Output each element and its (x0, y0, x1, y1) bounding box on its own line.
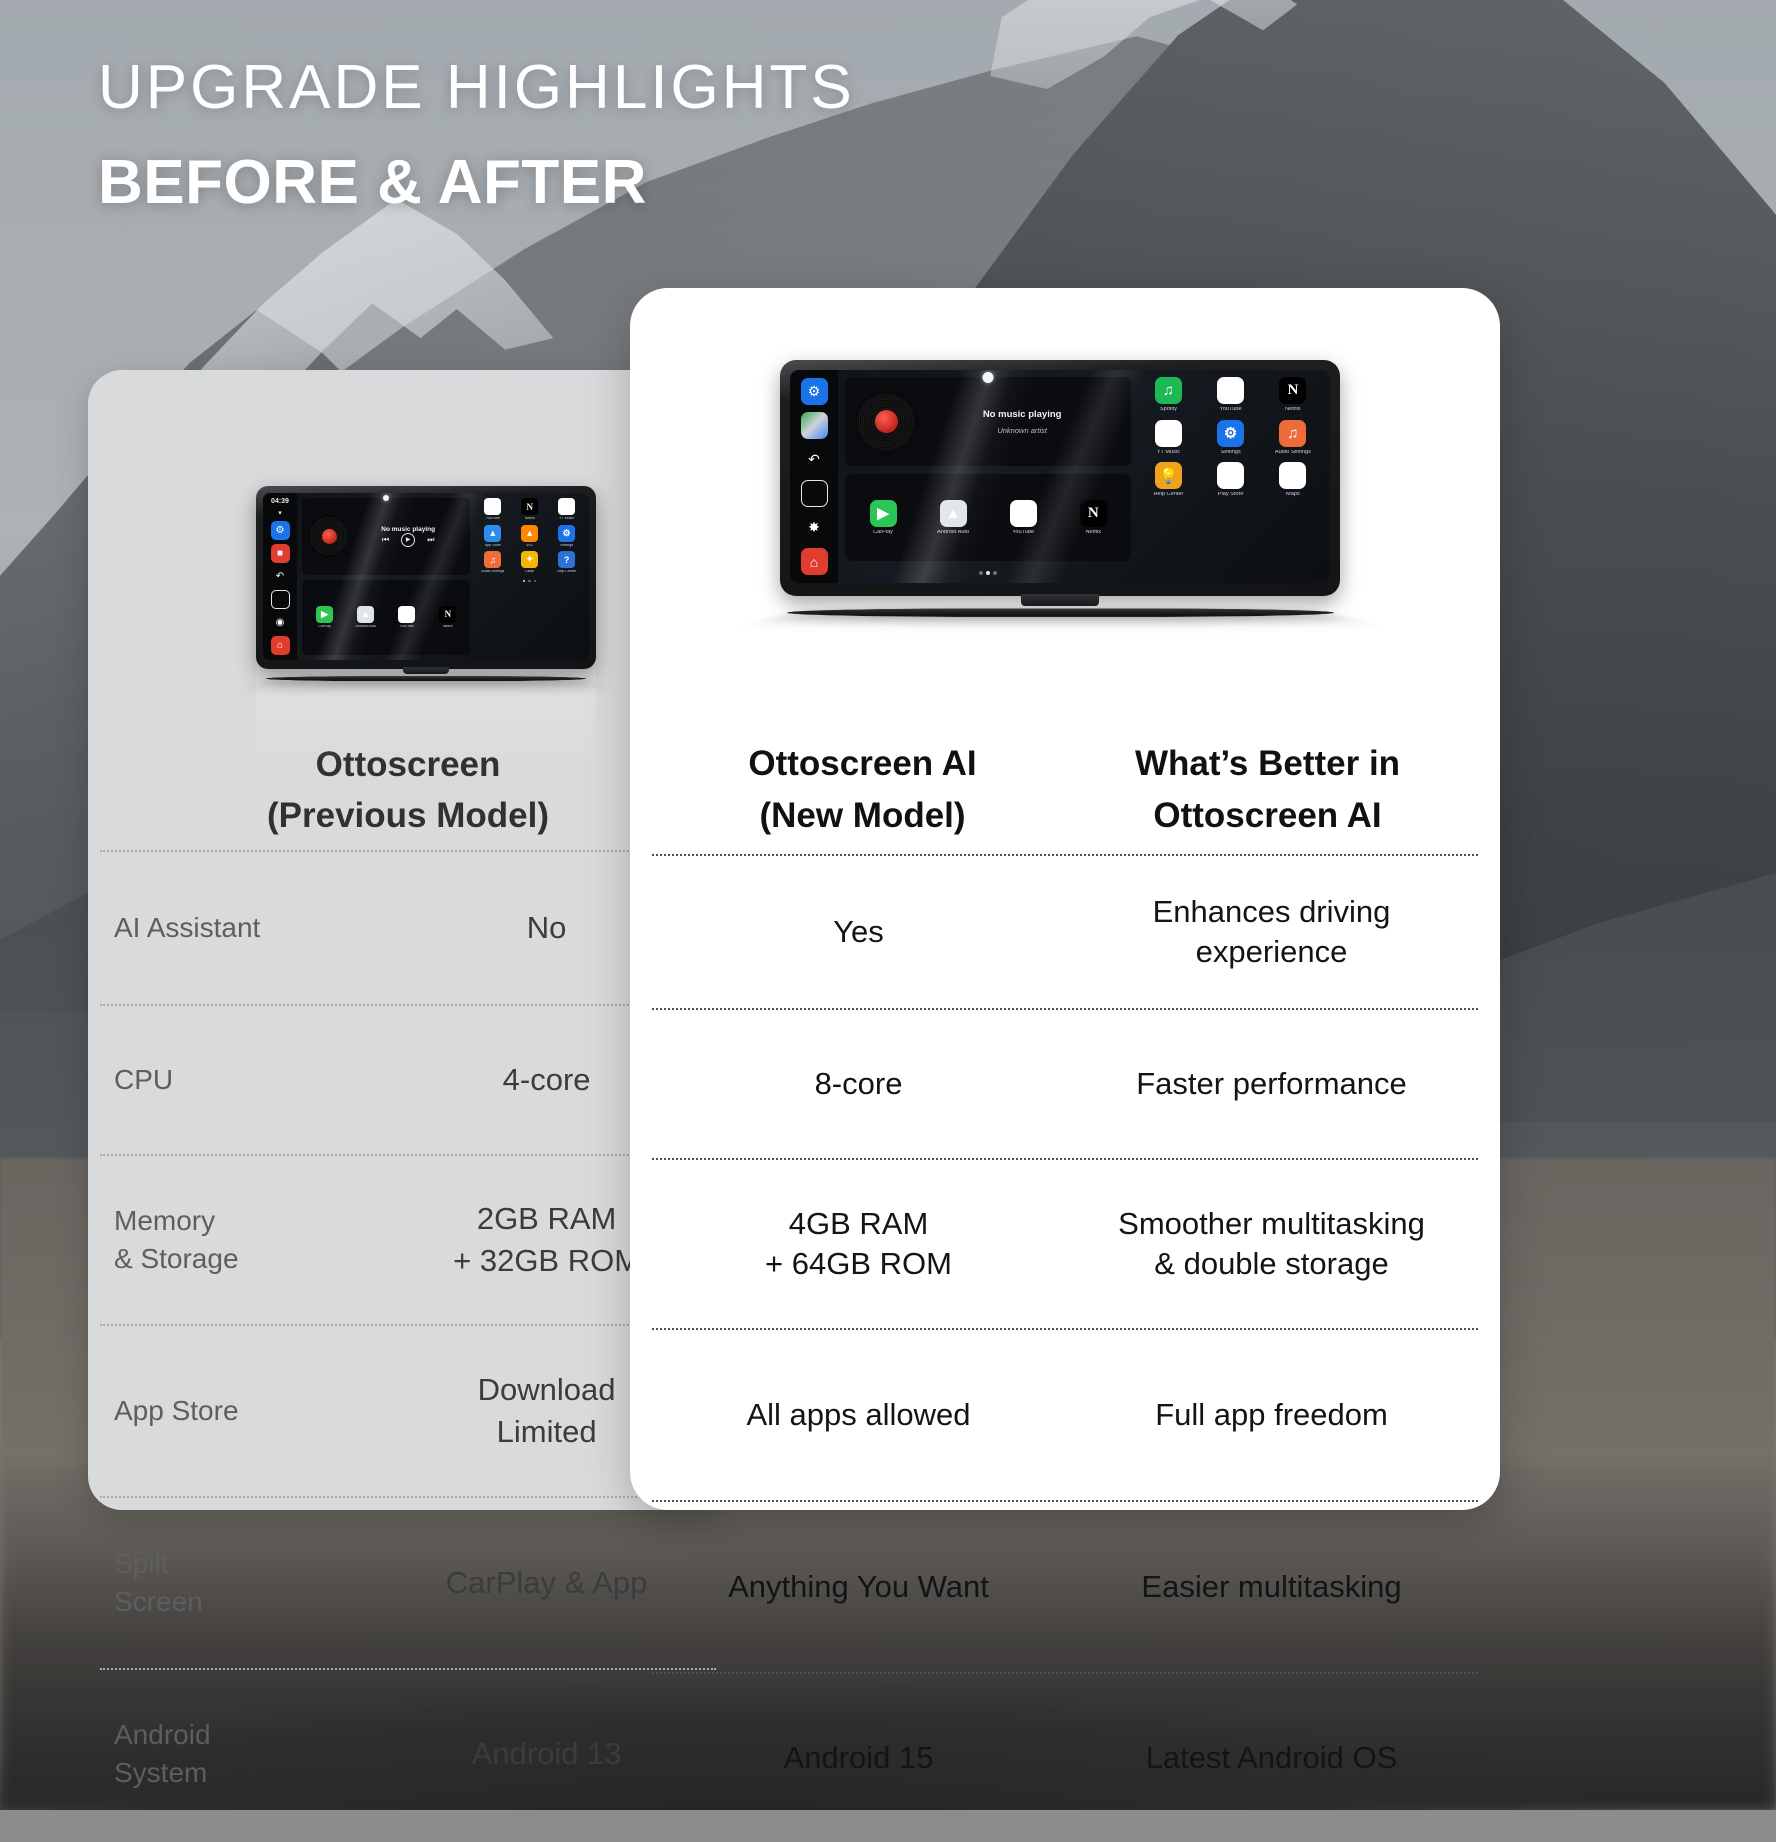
android-auto-icon: ▲ (940, 500, 967, 527)
now-playing-text: No music playing Unknown artist (925, 409, 1119, 435)
table-row: App Store Download Limited (100, 1324, 716, 1496)
table-row: 4GB RAM + 64GB ROM Smoother multitasking… (652, 1158, 1478, 1328)
device-screen: 04:39 ▾ ⚙ ■ ↶ ◉ ⌂ No musi (263, 493, 589, 660)
table-row: Anything You Want Easier multitasking (652, 1500, 1478, 1672)
new-model-value: 8-core (652, 1064, 1065, 1104)
split-screen-icon[interactable] (271, 590, 290, 609)
camera-icon[interactable]: ✸ (801, 514, 828, 541)
app-label: Audio Settings (1275, 450, 1311, 456)
new-model-title-line2: (New Model) (666, 790, 1059, 842)
status-clock: 04:39 (271, 498, 289, 506)
app-label: Help Center (1153, 492, 1183, 498)
device-screen-content: No music playing ⏮ ▶ ⏭ ▶CarPlay ▲Android… (297, 493, 589, 660)
audio-settings-icon: ♫ (1279, 420, 1306, 447)
now-playing-card: No music playing ⏮ ▶ ⏭ (302, 498, 470, 575)
app-tile[interactable]: ✦Clean (512, 551, 547, 574)
camera-dot-icon (983, 372, 994, 383)
settings-icon: ⚙ (1217, 420, 1244, 447)
app-tile[interactable]: ◉YT Music (549, 498, 584, 521)
table-row: Spilt Screen CarPlay & App (100, 1496, 716, 1668)
netflix-icon: N (439, 606, 456, 623)
table-row: Android System Android 13 (100, 1668, 716, 1838)
split-screen-icon[interactable] (801, 480, 828, 507)
table-row: CPU 4-core (100, 1004, 716, 1154)
app-tile[interactable]: ?Help Center (549, 551, 584, 574)
app-label: YT Music (1157, 450, 1180, 456)
carplay-icon: ▶ (316, 606, 333, 623)
header-new-model: Ottoscreen AI (New Model) (660, 738, 1065, 842)
previous-model-spec-table: AI Assistant No CPU 4-core Memory & Stor… (100, 850, 716, 1838)
page-subtitle: BEFORE & AFTER (98, 149, 855, 217)
new-model-value: 4GB RAM + 64GB ROM (652, 1204, 1065, 1285)
previous-model-device-image: 04:39 ▾ ⚙ ■ ↶ ◉ ⌂ No musi (256, 486, 596, 683)
new-model-value: Anything You Want (652, 1567, 1065, 1607)
gear-icon[interactable]: ⚙ (801, 378, 828, 405)
home-button-icon[interactable]: ⌂ (271, 636, 290, 655)
app-tile[interactable]: ▶YouTube (1201, 377, 1261, 413)
app-tile[interactable]: ▲App Store (475, 525, 510, 548)
app-label: Audio Settings (481, 570, 504, 574)
spec-key: CPU (100, 1061, 377, 1099)
spec-key: Memory & Storage (100, 1202, 377, 1278)
app-label: Spotify (1160, 407, 1177, 413)
spec-key: Android System (100, 1716, 377, 1792)
new-model-value: Yes (652, 912, 1065, 952)
header-whats-better: What’s Better in Ottoscreen AI (1065, 738, 1470, 842)
yt-music-icon: ◉ (558, 498, 575, 515)
app-tile[interactable]: ⚙Settings (1201, 420, 1261, 456)
app-tile[interactable]: ♫Audio Settings (475, 551, 510, 574)
benefit-value: Enhances driving experience (1065, 892, 1478, 973)
app-tile[interactable]: NNetflix (1263, 377, 1323, 413)
whats-better-title-line2: Ottoscreen AI (1071, 790, 1464, 842)
maps-icon: ● (1279, 462, 1306, 489)
page-title: UPGRADE HIGHLIGHTS (98, 52, 855, 123)
media-column: No music playing ⏮ ▶ ⏭ ▶CarPlay ▲Android… (302, 498, 470, 655)
camera-icon[interactable]: ◉ (271, 613, 290, 632)
device-stand (881, 594, 1239, 620)
home-icon[interactable]: ⌂ (801, 548, 828, 575)
benefit-value: Full app freedom (1065, 1395, 1478, 1435)
app-store-icon: ▲ (484, 525, 501, 542)
help-center-icon: ? (558, 551, 575, 568)
app-label: Netflix (525, 517, 535, 521)
now-playing-title: No music playing (925, 409, 1119, 420)
benefit-value: Smoother multitasking & double storage (1065, 1204, 1478, 1285)
device-stand (321, 667, 532, 683)
app-label: Netflix (1285, 407, 1301, 413)
android-auto-icon: ▲ (357, 606, 374, 623)
app-label: Netflix (1085, 530, 1101, 536)
app-label: Help Center (557, 570, 576, 574)
new-model-spec-table: Yes Enhances driving experience 8-core F… (652, 854, 1478, 1842)
clean-icon: ✦ (521, 551, 538, 568)
spec-key: App Store (100, 1392, 377, 1430)
youtube-icon: ▶ (1010, 500, 1037, 527)
app-label: App Store (485, 544, 501, 548)
next-track-icon[interactable]: ⏭ (427, 535, 434, 545)
app-label: Settings (1221, 450, 1241, 456)
new-model-table-headers: Ottoscreen AI (New Model) What’s Better … (660, 738, 1470, 842)
netflix-icon: N (521, 498, 538, 515)
spotify-icon: ♫ (1155, 377, 1182, 404)
page-indicator-dots (475, 578, 584, 584)
app-label: CarPlay (873, 530, 893, 536)
now-playing-card: No music playing Unknown artist (845, 377, 1131, 466)
app-label: Settings (560, 544, 573, 548)
previous-track-icon[interactable]: ⏮ (382, 535, 389, 545)
table-row: AI Assistant No (100, 850, 716, 1004)
play-store-icon: ▶ (1217, 462, 1244, 489)
device-bezel: ⚙ ↶ ✸ ⌂ No music playing Unk (780, 360, 1340, 596)
app-tile[interactable]: ▶Play Store (1201, 462, 1261, 498)
app-label: Android Auto (355, 625, 376, 629)
now-playing-title: No music playing (354, 526, 462, 533)
yt-music-icon: ◉ (1155, 420, 1182, 447)
new-model-device-image: ⚙ ↶ ✸ ⌂ No music playing Unk (780, 360, 1340, 620)
media-transport-controls[interactable]: ⏮ ▶ ⏭ (354, 533, 462, 547)
device-bezel: 04:39 ▾ ⚙ ■ ↶ ◉ ⌂ No musi (256, 486, 596, 669)
app-label: VLC (526, 544, 533, 548)
app-tile[interactable]: ▲Android Auto (346, 606, 385, 629)
benefit-value: Faster performance (1065, 1064, 1478, 1104)
app-tile[interactable]: ◉YT Music (1138, 420, 1198, 456)
media-column: No music playing Unknown artist ▶CarPlay… (845, 377, 1131, 576)
vinyl-record-icon (310, 517, 348, 555)
netflix-icon: N (1080, 500, 1107, 527)
now-playing-subtitle: Unknown artist (925, 426, 1119, 435)
wifi-icon: ▾ (278, 509, 282, 517)
app-label: YouTube (1220, 407, 1242, 413)
app-tile[interactable]: ▶CarPlay (305, 606, 344, 629)
app-tile[interactable]: ▶CarPlay (849, 500, 917, 536)
table-row: 8-core Faster performance (652, 1008, 1478, 1158)
app-tile[interactable]: NNetflix (1059, 500, 1127, 536)
app-tile[interactable]: ▶YouTube (989, 500, 1057, 536)
device-side-rail: ⚙ ↶ ✸ ⌂ (790, 370, 838, 583)
audio-settings-icon: ♫ (484, 551, 501, 568)
app-label: YouTube (400, 625, 414, 629)
bottom-app-row: ▶CarPlay ▲Android Auto ▶YouTube NNetflix (845, 474, 1131, 561)
youtube-icon: ▶ (484, 498, 501, 515)
vinyl-record-icon (857, 393, 915, 451)
app-tile[interactable]: ⚙Settings (549, 525, 584, 548)
help-center-icon: 💡 (1155, 462, 1182, 489)
app-tile[interactable]: ▶YouTube (387, 606, 426, 629)
app-tile[interactable]: 💡Help Center (1138, 462, 1198, 498)
netflix-icon: N (1279, 377, 1306, 404)
table-row: Android 15 Latest Android OS (652, 1672, 1478, 1842)
stand-neck (1021, 594, 1100, 606)
youtube-icon: ▶ (398, 606, 415, 623)
app-tile[interactable]: NNetflix (428, 606, 467, 629)
back-icon[interactable]: ↶ (271, 567, 290, 586)
back-icon[interactable]: ↶ (801, 446, 828, 473)
camera-dot-icon (383, 495, 389, 501)
bottom-app-row: ▶CarPlay ▲Android Auto ▶YouTube NNetflix (302, 580, 470, 655)
app-label: Android Auto (937, 530, 969, 536)
table-row: Yes Enhances driving experience (652, 854, 1478, 1008)
new-model-title-line1: Ottoscreen AI (666, 738, 1059, 790)
new-model-card: ⚙ ↶ ✸ ⌂ No music playing Unk (630, 288, 1500, 1510)
app-label: YT Music (559, 517, 574, 521)
device-screen-content: No music playing Unknown artist ▶CarPlay… (838, 370, 1330, 583)
whats-better-title-line1: What’s Better in (1071, 738, 1464, 790)
app-tile[interactable]: NNetflix (512, 498, 547, 521)
spec-key: AI Assistant (100, 909, 377, 947)
maps-icon[interactable] (801, 412, 828, 439)
stand-neck (403, 667, 449, 674)
page-heading-block: UPGRADE HIGHLIGHTS BEFORE & AFTER (98, 52, 855, 217)
device-screen: ⚙ ↶ ✸ ⌂ No music playing Unk (790, 370, 1330, 583)
app-label: YouTube (1012, 530, 1034, 536)
benefit-value: Easier multitasking (1065, 1567, 1478, 1607)
app-tile[interactable]: ▲VLC (512, 525, 547, 548)
youtube-icon: ▶ (1217, 377, 1244, 404)
app-label: Clean (525, 570, 534, 574)
spec-key: Spilt Screen (100, 1545, 377, 1621)
app-tile[interactable]: ▶YouTube (475, 498, 510, 521)
app-grid: ♫Spotify ▶YouTube NNetflix ◉YT Music ⚙Se… (1138, 377, 1323, 576)
table-row: Memory & Storage 2GB RAM + 32GB ROM (100, 1154, 716, 1324)
stand-base (773, 609, 1347, 617)
app-label: CarPlay (318, 625, 331, 629)
vlc-icon: ▲ (521, 525, 538, 542)
home-icon[interactable]: ■ (271, 544, 290, 563)
previous-model-title-line2: (Previous Model) (116, 791, 700, 842)
app-tile[interactable]: ♫Audio Settings (1263, 420, 1323, 456)
page-indicator-dots (845, 569, 1131, 576)
play-icon[interactable]: ▶ (401, 533, 415, 547)
app-grid: ▶YouTube NNetflix ◉YT Music ▲App Store ▲… (475, 498, 584, 655)
app-label: Maps (1286, 492, 1300, 498)
app-tile[interactable]: ♫Spotify (1138, 377, 1198, 413)
carplay-icon: ▶ (870, 500, 897, 527)
settings-icon: ⚙ (558, 525, 575, 542)
app-tile[interactable]: ▲Android Auto (919, 500, 987, 536)
table-row: All apps allowed Full app freedom (652, 1328, 1478, 1500)
gear-icon[interactable]: ⚙ (271, 521, 290, 540)
app-label: Play Store (1218, 492, 1244, 498)
device-side-rail: 04:39 ▾ ⚙ ■ ↶ ◉ ⌂ (263, 493, 297, 660)
new-model-value: All apps allowed (652, 1395, 1065, 1435)
new-model-value: Android 15 (652, 1738, 1065, 1778)
benefit-value: Latest Android OS (1065, 1738, 1478, 1778)
app-label: Netflix (443, 625, 453, 629)
app-tile[interactable]: ●Maps (1263, 462, 1323, 498)
now-playing-text: No music playing ⏮ ▶ ⏭ (354, 526, 462, 547)
app-label: YouTube (486, 517, 500, 521)
stand-base (261, 676, 592, 681)
